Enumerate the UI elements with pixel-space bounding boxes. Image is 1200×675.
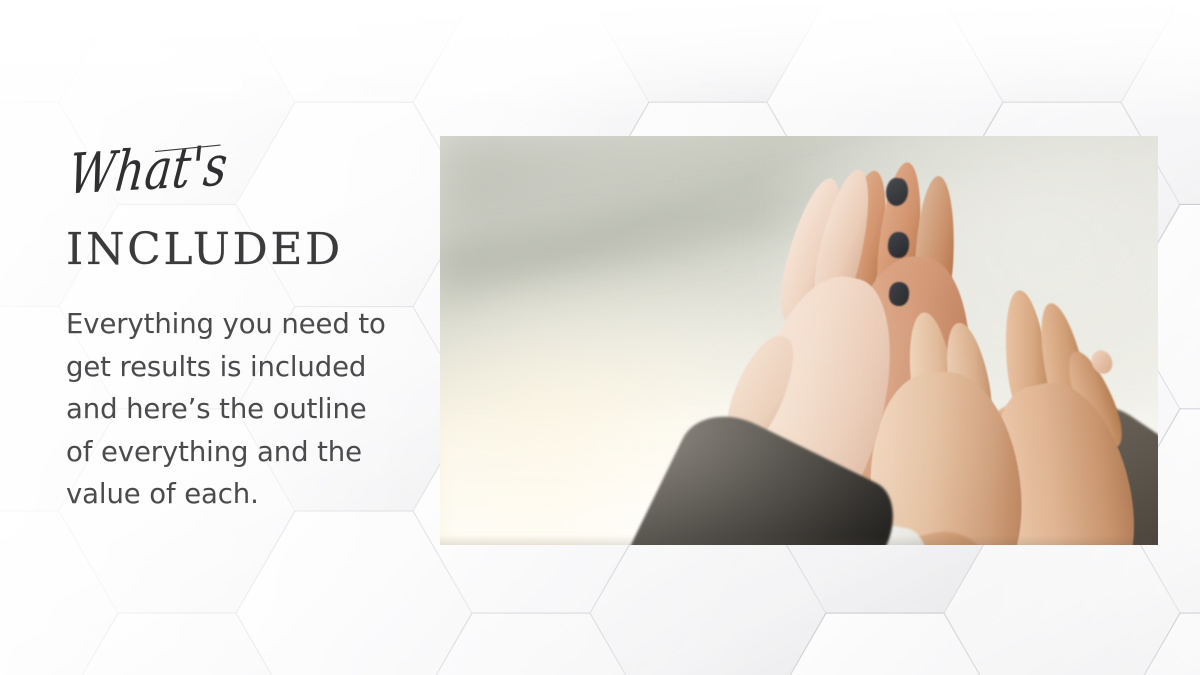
script-heading-text: What's [66, 134, 231, 208]
body-line: of everything and the [66, 431, 426, 474]
page-title: INCLUDED [66, 226, 343, 274]
body-line: and here’s the outline [66, 388, 426, 431]
body-line: get results is included [66, 346, 426, 389]
text-column: What's INCLUDED Everything you need to g… [0, 0, 430, 675]
body-paragraph: Everything you need to get results is in… [66, 303, 426, 516]
script-heading: What's [66, 138, 230, 203]
body-line: Everything you need to [66, 303, 426, 346]
teamwork-hands-photo [440, 136, 1158, 545]
photo-soft-overlay [440, 136, 1158, 545]
body-line: value of each. [66, 473, 426, 516]
slide-canvas: What's INCLUDED Everything you need to g… [0, 0, 1200, 675]
photo-bottom-shadow [440, 535, 1158, 545]
